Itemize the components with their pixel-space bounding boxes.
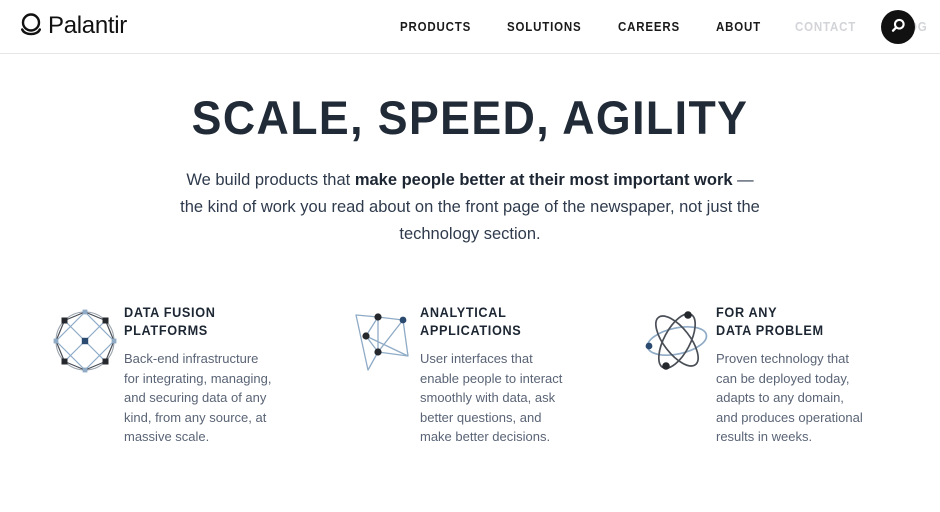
main-navigation: PRODUCTS SOLUTIONS CAREERS ABOUT CONTACT… xyxy=(400,20,931,34)
feature-item: FOR ANY DATA PROBLEM Proven technology t… xyxy=(644,304,940,447)
site-header: Palantir PRODUCTS SOLUTIONS CAREERS ABOU… xyxy=(0,0,940,54)
nav-item-solutions[interactable]: SOLUTIONS xyxy=(507,20,582,34)
feature-title: ANALYTICAL APPLICATIONS xyxy=(420,304,561,340)
nav-item-contact[interactable]: CONTACT xyxy=(795,20,856,34)
data-fusion-network-icon xyxy=(52,304,124,379)
nav-item-careers[interactable]: CAREERS xyxy=(618,20,680,34)
feature-description: Proven technology that can be deployed t… xyxy=(716,349,866,447)
feature-item: ANALYTICAL APPLICATIONS User interfaces … xyxy=(348,304,644,447)
feature-title: FOR ANY DATA PROBLEM xyxy=(716,304,857,340)
atom-orbital-icon xyxy=(644,304,716,379)
analytical-graph-icon xyxy=(348,304,420,379)
feature-body: FOR ANY DATA PROBLEM Proven technology t… xyxy=(716,304,866,447)
brand-logo[interactable]: Palantir xyxy=(18,11,127,41)
brand-name: Palantir xyxy=(48,14,127,38)
feature-columns: DATA FUSION PLATFORMS Back-end infrastru… xyxy=(0,304,940,447)
hero-subheading: We build products that make people bette… xyxy=(180,167,760,248)
search-button[interactable] xyxy=(881,10,915,44)
nav-item-products[interactable]: PRODUCTS xyxy=(400,20,471,34)
subhead-text-emphasis: make people better at their most importa… xyxy=(355,171,733,189)
feature-title: DATA FUSION PLATFORMS xyxy=(124,304,265,340)
feature-body: ANALYTICAL APPLICATIONS User interfaces … xyxy=(420,304,570,447)
feature-description: Back-end infrastructure for integrating,… xyxy=(124,349,274,447)
nav-item-about[interactable]: ABOUT xyxy=(716,20,761,34)
search-icon xyxy=(889,17,907,38)
subhead-text-lead: We build products that xyxy=(186,171,354,189)
feature-item: DATA FUSION PLATFORMS Back-end infrastru… xyxy=(52,304,348,447)
palantir-mark-icon xyxy=(18,11,44,41)
feature-body: DATA FUSION PLATFORMS Back-end infrastru… xyxy=(124,304,274,447)
hero-section: SCALE, SPEED, AGILITY We build products … xyxy=(0,54,940,248)
page-title: SCALE, SPEED, AGILITY xyxy=(24,94,917,141)
feature-description: User interfaces that enable people to in… xyxy=(420,349,570,447)
